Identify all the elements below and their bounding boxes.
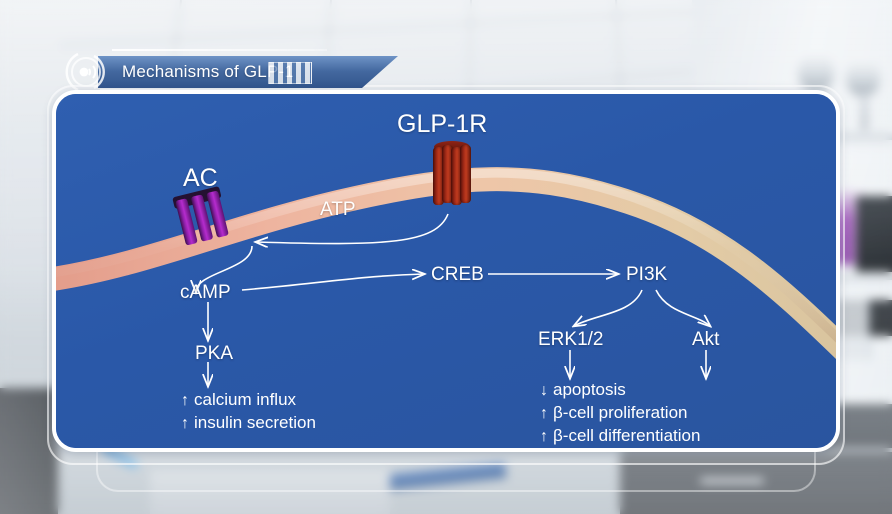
label-glp1r: GLP-1R [397, 110, 487, 139]
receptor-helix [460, 145, 471, 203]
outcomes-right: ↓ apoptosis ↑ β-cell proliferation ↑ β-c… [540, 379, 700, 448]
label-atp: ATP [320, 199, 356, 221]
up-arrow-icon: ↑ [540, 426, 553, 448]
label-camp: cAMP [180, 282, 231, 304]
glp1r-receptor-protein [433, 145, 471, 207]
outcome-label: insulin secretion [194, 412, 316, 434]
up-arrow-icon: ↑ [540, 403, 553, 425]
down-arrow-icon: ↓ [540, 380, 553, 402]
title-bar: Mechanisms of GLP-1 [60, 48, 480, 96]
outcome-label: β-cell proliferation [553, 402, 688, 424]
title-banner: Mechanisms of GLP-1 [98, 56, 398, 88]
screenshot-root: Mechanisms of GLP-1 [0, 0, 892, 514]
label-pi3k: PI3K [626, 264, 667, 286]
outcome-label: apoptosis [553, 379, 626, 401]
page-title: Mechanisms of GLP-1 [98, 62, 294, 82]
outcome-item: ↑ calcium influx [181, 389, 316, 412]
up-arrow-icon: ↑ [181, 390, 194, 412]
outcome-label: β-cell differentiation [553, 425, 700, 447]
outcome-item: ↑ insulin secretion [181, 412, 316, 435]
panel-glass-frame-lower [96, 452, 816, 492]
outcome-label: calcium influx [194, 389, 296, 411]
outcome-item: ↓ apoptosis [540, 379, 700, 402]
diagram-canvas: GLP-1R AC ATP cAMP PKA CREB PI3K ERK1/2 … [56, 94, 836, 448]
label-ac: AC [183, 164, 218, 193]
label-akt: Akt [692, 329, 719, 351]
diagram-panel: GLP-1R AC ATP cAMP PKA CREB PI3K ERK1/2 … [52, 90, 840, 452]
broadcast-signal-icon [64, 50, 108, 94]
title-vent-decoration [268, 62, 312, 84]
label-creb: CREB [431, 264, 484, 286]
outcome-item: ↑ β-cell differentiation [540, 425, 700, 448]
outcomes-left: ↑ calcium influx ↑ insulin secretion [181, 389, 316, 435]
outcome-item: ↑ β-cell proliferation [540, 402, 700, 425]
title-top-rule [112, 49, 327, 51]
label-erk: ERK1/2 [538, 329, 603, 351]
up-arrow-icon: ↑ [181, 413, 194, 435]
label-pka: PKA [195, 343, 233, 365]
